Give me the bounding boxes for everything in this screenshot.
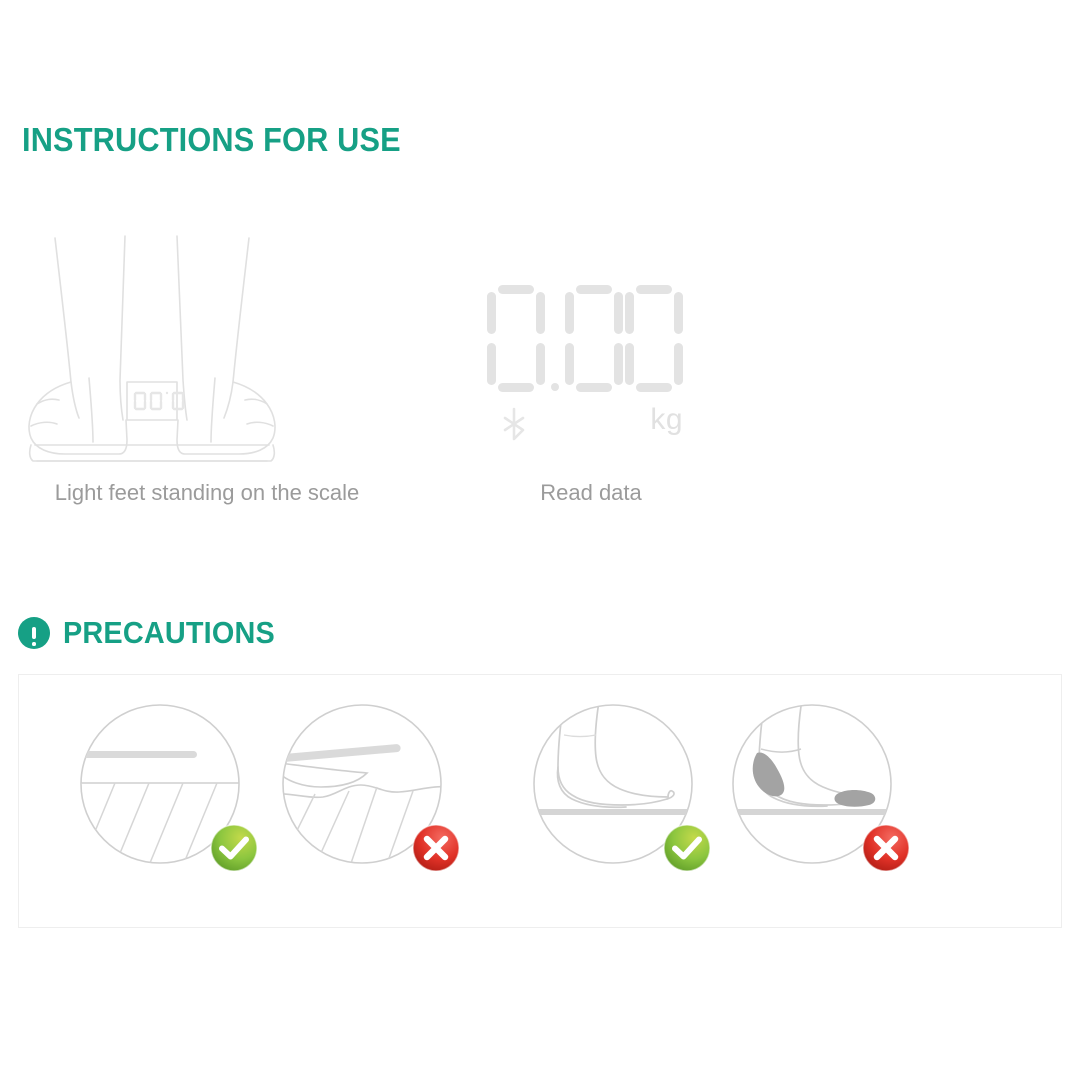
display-digit-0 <box>487 285 545 393</box>
precautions-panel <box>18 674 1062 928</box>
digital-readout-illustration: kg <box>411 230 771 475</box>
exclamation-circle-icon <box>18 617 50 649</box>
legs-standing-on-scale-illustration <box>27 230 387 475</box>
precautions-title: PRECAUTIONS <box>63 613 275 653</box>
precautions-heading: PRECAUTIONS <box>18 613 291 653</box>
check-circle-icon <box>662 823 712 873</box>
display-footer: kg <box>487 403 697 448</box>
bluetooth-icon <box>501 407 527 441</box>
instruction-step-read: kg Read data <box>411 230 771 540</box>
display-digit-1 <box>565 285 623 393</box>
display-digits <box>487 285 683 393</box>
precaution-bare-foot <box>522 693 704 875</box>
display-digit-2 <box>625 285 683 393</box>
precaution-hard-floor <box>69 693 251 875</box>
display-decimal-point <box>547 285 563 393</box>
cross-circle-icon <box>411 823 461 873</box>
instruction-step-stand: Light feet standing on the scale <box>27 230 387 540</box>
instruction-step-caption: Read data <box>411 480 771 506</box>
scale-display: kg <box>487 285 697 450</box>
instruction-step-caption: Light feet standing on the scale <box>27 480 387 506</box>
precaution-soft-carpet <box>271 693 453 875</box>
check-circle-icon <box>209 823 259 873</box>
cross-circle-icon <box>861 823 911 873</box>
precaution-socked-foot <box>721 693 903 875</box>
page-title: INSTRUCTIONS FOR USE <box>22 120 401 160</box>
display-unit-label: kg <box>650 403 683 437</box>
instruction-steps: Light feet standing on the scale <box>0 230 1080 540</box>
